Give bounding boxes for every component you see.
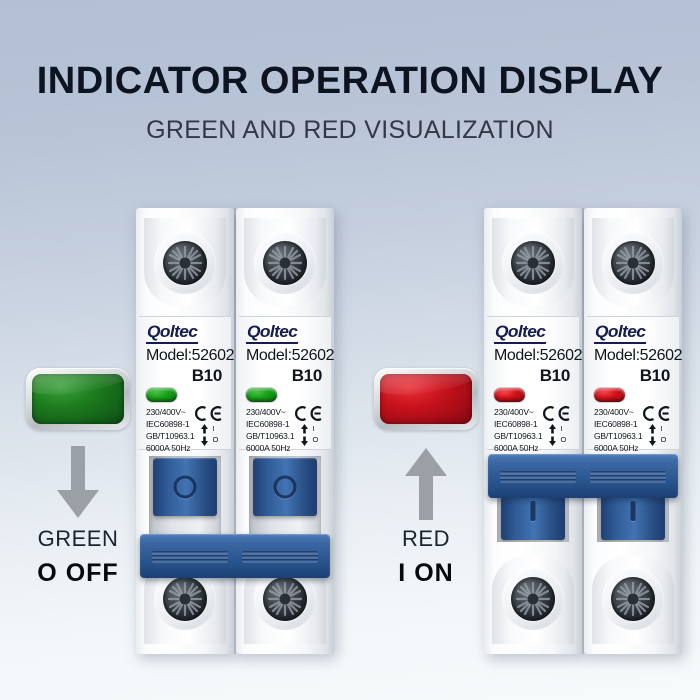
io-indicator: I O — [648, 424, 666, 446]
status-led-green — [146, 388, 177, 402]
rocker-grip — [152, 551, 228, 563]
arrow-up-icon — [403, 446, 449, 520]
toggle-i-marker — [531, 501, 536, 521]
current-rating: B10 — [146, 366, 224, 386]
status-led-red — [594, 388, 625, 402]
updown-arrows-icon — [648, 424, 657, 446]
screw-terminal-icon — [163, 241, 207, 285]
rocker-bar-on[interactable] — [488, 454, 678, 498]
ce-mark-icon — [194, 406, 224, 421]
product-label: Qoltec Model:52602 B10 230/400V~ IEC6089… — [487, 316, 579, 450]
model-number: Model:52602 — [146, 347, 224, 365]
ce-mark-icon — [642, 406, 672, 421]
green-indicator-bezel — [26, 368, 130, 430]
updown-arrows-icon — [300, 424, 309, 446]
terminal-bottom — [592, 556, 674, 644]
screw-terminal-icon — [163, 577, 207, 621]
rocker-grip — [500, 471, 576, 483]
rocker-grip — [242, 551, 318, 563]
ce-mark-icon — [542, 406, 572, 421]
breaker-pole: Qoltec Model:52602 B10 230/400V~ IEC6089… — [236, 208, 334, 654]
compliance-marks: I O — [294, 406, 324, 446]
toggle-o-marker — [274, 476, 297, 499]
brand-logo: Qoltec — [146, 323, 198, 344]
current-rating: B10 — [246, 366, 324, 386]
indicator-state-on: RED I ON — [366, 368, 486, 588]
red-indicator-bezel — [374, 368, 478, 430]
state-mode-label-on: I ON — [366, 559, 486, 588]
model-number: Model:52602 — [246, 347, 324, 365]
product-scene: GREEN O OFF RED I ON — [0, 0, 700, 700]
toggle-well — [149, 456, 221, 542]
toggle-well — [249, 456, 321, 542]
product-label: Qoltec Model:52602 B10 230/400V~ IEC6089… — [587, 316, 679, 450]
specifications: 230/400V~ IEC60898-1 GB/T10963.1 6000A 5… — [146, 406, 194, 454]
screw-terminal-icon — [263, 241, 307, 285]
rocker-grip — [590, 471, 666, 483]
rocker-bar-off[interactable] — [140, 534, 330, 578]
compliance-marks: I O — [194, 406, 224, 446]
terminal-top — [144, 218, 226, 306]
io-label-on: I — [560, 424, 566, 435]
specifications: 230/400V~ IEC60898-1 GB/T10963.1 6000A 5… — [246, 406, 294, 454]
ce-mark-icon — [294, 406, 324, 421]
screw-terminal-icon — [263, 577, 307, 621]
current-rating: B10 — [494, 366, 572, 386]
breaker-pole: Qoltec Model:52602 B10 230/400V~ IEC6089… — [484, 208, 582, 654]
terminal-top — [592, 218, 674, 306]
terminal-bottom — [492, 556, 574, 644]
status-led-green — [246, 388, 277, 402]
current-rating: B10 — [594, 366, 672, 386]
io-label-on: I — [212, 424, 218, 435]
io-label-off: O — [212, 435, 218, 446]
io-label-off: O — [660, 435, 666, 446]
state-color-label-green: GREEN — [18, 526, 138, 552]
updown-arrows-icon — [548, 424, 557, 446]
specifications: 230/400V~ IEC60898-1 GB/T10963.1 6000A 5… — [494, 406, 542, 454]
io-label-off: O — [560, 435, 566, 446]
compliance-marks: I O — [542, 406, 572, 446]
circuit-breaker-off[interactable]: Qoltec Model:52602 B10 230/400V~ IEC6089… — [136, 208, 334, 654]
pole-seam — [582, 208, 584, 654]
red-indicator-lamp — [380, 374, 472, 424]
toggle-o-marker — [174, 476, 197, 499]
brand-logo: Qoltec — [594, 323, 646, 344]
state-color-label-red: RED — [366, 526, 486, 552]
terminal-top — [244, 218, 326, 306]
circuit-breaker-on[interactable]: Qoltec Model:52602 B10 230/400V~ IEC6089… — [484, 208, 682, 654]
brand-logo: Qoltec — [494, 323, 546, 344]
model-number: Model:52602 — [594, 347, 672, 365]
product-label: Qoltec Model:52602 B10 230/400V~ IEC6089… — [239, 316, 331, 450]
screw-terminal-icon — [511, 241, 555, 285]
compliance-marks: I O — [642, 406, 672, 446]
indicator-state-off: GREEN O OFF — [18, 368, 138, 588]
green-indicator-lamp — [32, 374, 124, 424]
screw-terminal-icon — [611, 577, 655, 621]
product-label: Qoltec Model:52602 B10 230/400V~ IEC6089… — [139, 316, 231, 450]
specifications: 230/400V~ IEC60898-1 GB/T10963.1 6000A 5… — [594, 406, 642, 454]
terminal-top — [492, 218, 574, 306]
screw-terminal-icon — [511, 577, 555, 621]
pole-seam — [234, 208, 236, 654]
arrow-down-icon — [55, 446, 101, 520]
brand-logo: Qoltec — [246, 323, 298, 344]
io-label-off: O — [312, 435, 318, 446]
toggle-i-marker — [631, 501, 636, 521]
io-label-on: I — [312, 424, 318, 435]
breaker-pole: Qoltec Model:52602 B10 230/400V~ IEC6089… — [584, 208, 682, 654]
io-label-on: I — [660, 424, 666, 435]
io-indicator: I O — [200, 424, 218, 446]
io-indicator: I O — [548, 424, 566, 446]
io-indicator: I O — [300, 424, 318, 446]
model-number: Model:52602 — [494, 347, 572, 365]
breaker-pole: Qoltec Model:52602 B10 230/400V~ IEC6089… — [136, 208, 234, 654]
toggle-switch-off[interactable] — [153, 458, 217, 516]
toggle-switch-off[interactable] — [253, 458, 317, 516]
updown-arrows-icon — [200, 424, 209, 446]
status-led-red — [494, 388, 525, 402]
state-mode-label-off: O OFF — [18, 559, 138, 588]
screw-terminal-icon — [611, 241, 655, 285]
